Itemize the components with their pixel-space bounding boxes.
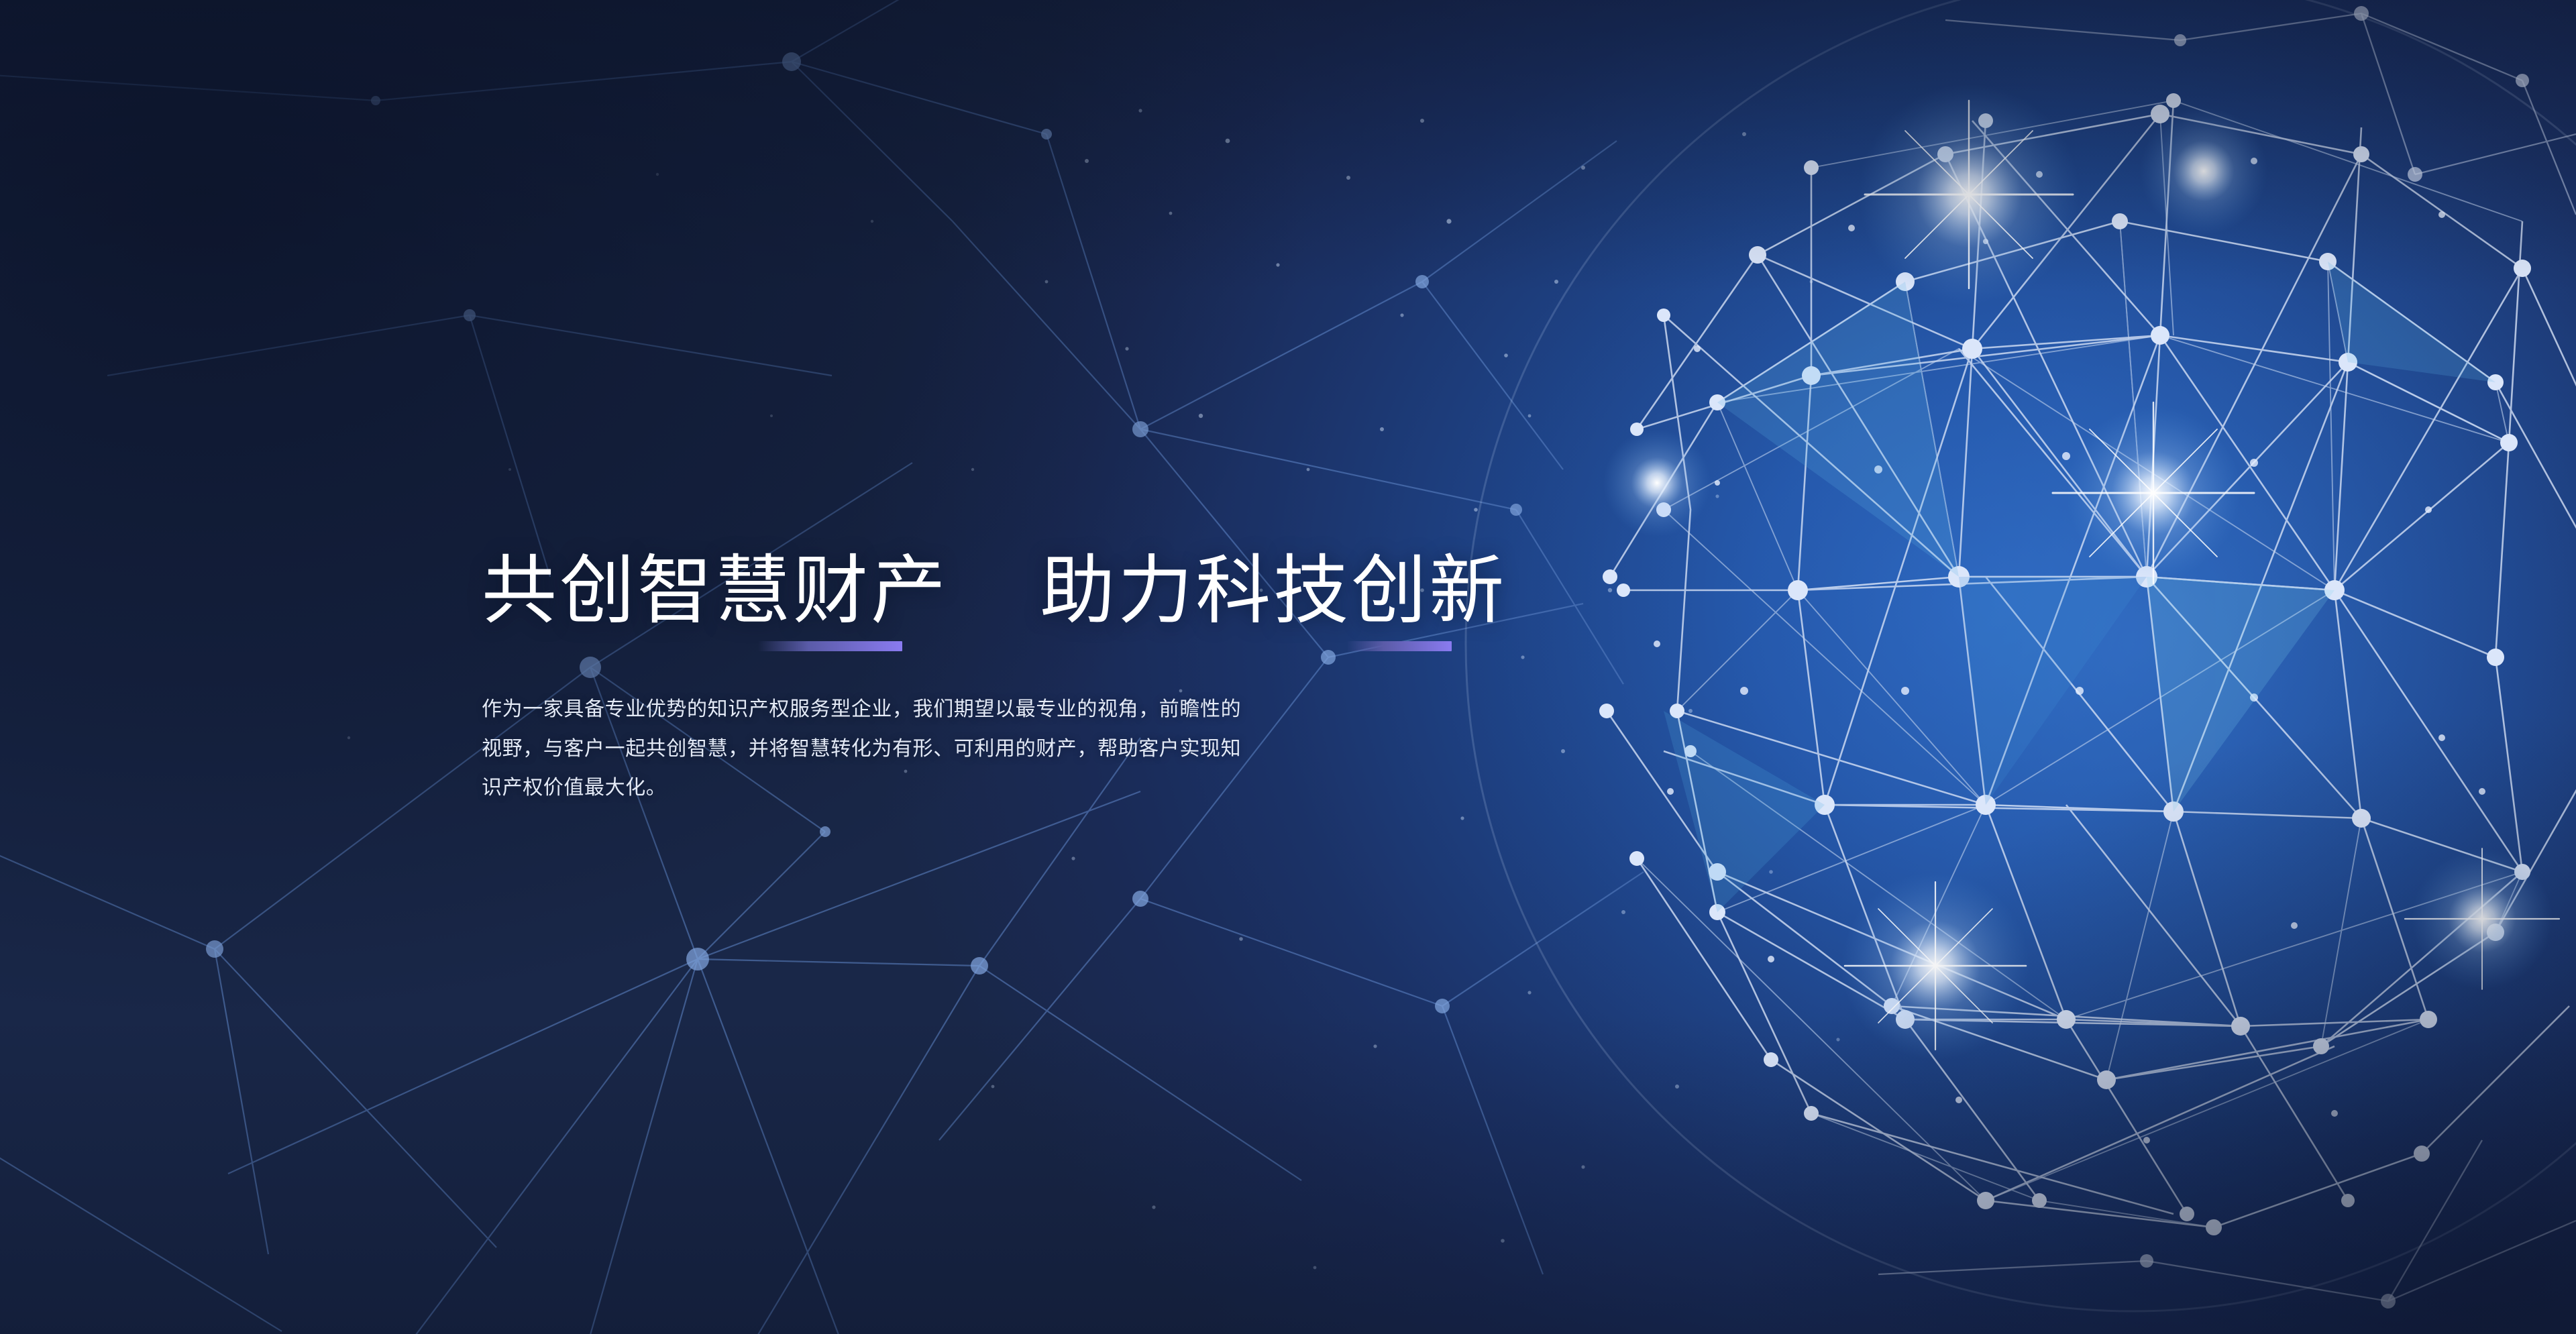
page-title: 共创智慧财产 助力科技创新 — [482, 549, 1434, 632]
headline-segment-1-text: 共创智慧财产 — [482, 549, 949, 632]
headline-accent-bar-2 — [1347, 641, 1452, 651]
hero-banner: 共创智慧财产 助力科技创新 作为一家具备专业优势的知识产权服务型企业，我们期望以… — [0, 0, 2576, 1334]
headline-segment-2-text: 助力科技创新 — [1040, 549, 1507, 632]
hero-description-text: 作为一家具备专业优势的知识产权服务型企业，我们期望以最专业的视角，前瞻性的视野，… — [482, 690, 1256, 808]
headline-accent-bar-1 — [758, 641, 902, 651]
hero-content: 共创智慧财产 助力科技创新 作为一家具备专业优势的知识产权服务型企业，我们期望以… — [482, 549, 1434, 808]
headline-segment-1: 共创智慧财产 — [482, 549, 949, 632]
headline-segment-2: 助力科技创新 — [1040, 549, 1507, 632]
hero-description: 作为一家具备专业优势的知识产权服务型企业，我们期望以最专业的视角，前瞻性的视野，… — [482, 690, 1256, 808]
